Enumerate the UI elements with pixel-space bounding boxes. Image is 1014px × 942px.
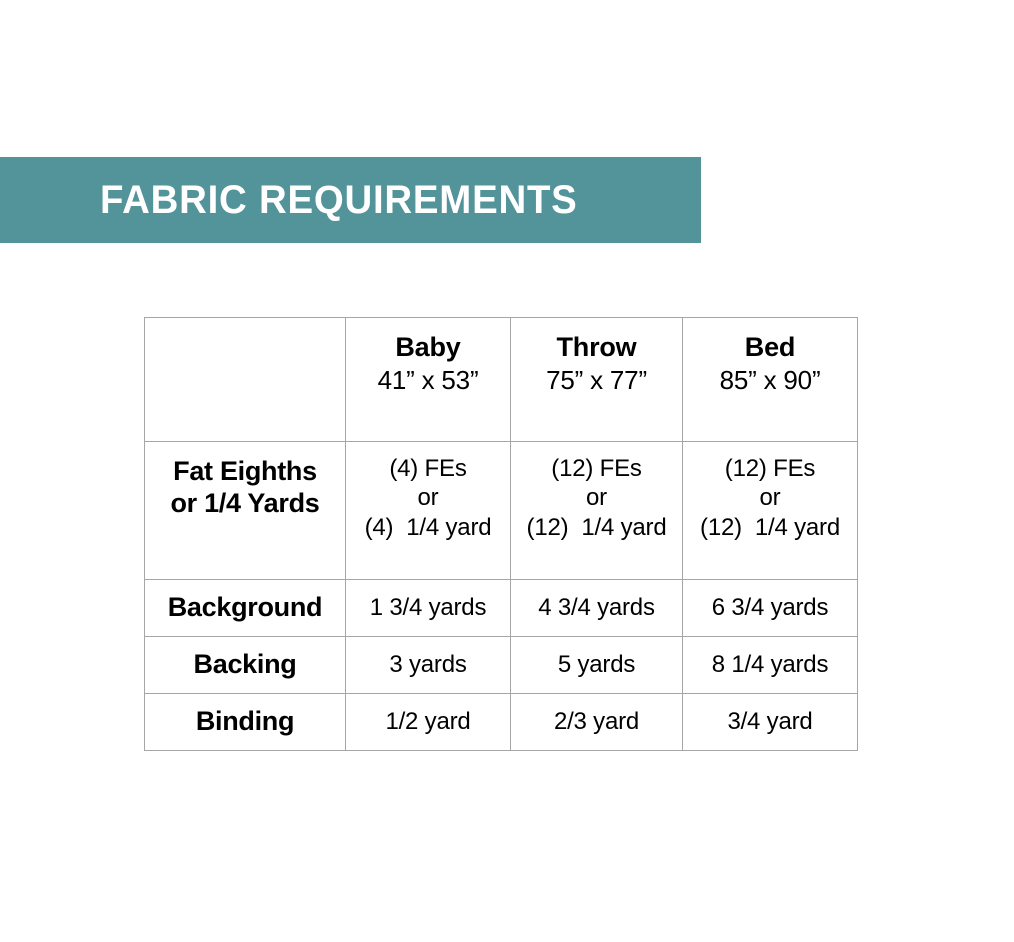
cell-value: (4) FEs or (4) 1/4 yard xyxy=(346,442,510,542)
cell-background-baby: 1 3/4 yards xyxy=(346,580,511,637)
table-header-baby: Baby 41” x 53” xyxy=(346,318,511,442)
cell-fat-eighths-bed: (12) FEs or (12) 1/4 yard xyxy=(683,442,858,580)
size-dims-bed: 85” x 90” xyxy=(683,365,857,395)
cell-value: 4 3/4 yards xyxy=(511,595,682,621)
row-label-cell-fat-eighths: Fat Eighths or 1/4 Yards xyxy=(145,442,346,580)
fabric-requirements-table: Baby 41” x 53” Throw 75” x 77” Bed 85” x… xyxy=(144,317,858,751)
cell-value: 5 yards xyxy=(511,652,682,678)
cell-binding-bed: 3/4 yard xyxy=(683,694,858,751)
size-dims-baby: 41” x 53” xyxy=(346,365,510,395)
table-row-background: Background 1 3/4 yards 4 3/4 yards 6 3/4… xyxy=(145,580,858,637)
page-title: FABRIC REQUIREMENTS xyxy=(100,180,578,220)
cell-fat-eighths-throw: (12) FEs or (12) 1/4 yard xyxy=(511,442,683,580)
cell-backing-baby: 3 yards xyxy=(346,637,511,694)
row-label-cell-backing: Backing xyxy=(145,637,346,694)
table-corner-cell xyxy=(145,318,346,442)
table-row-backing: Backing 3 yards 5 yards 8 1/4 yards xyxy=(145,637,858,694)
table-header-throw: Throw 75” x 77” xyxy=(511,318,683,442)
size-name-bed: Bed xyxy=(683,332,857,363)
cell-value: 8 1/4 yards xyxy=(683,652,857,678)
fabric-requirements-banner: FABRIC REQUIREMENTS xyxy=(0,157,701,243)
cell-backing-bed: 8 1/4 yards xyxy=(683,637,858,694)
row-label-fat-eighths-line1: Fat Eighths xyxy=(145,456,345,488)
cell-value: 1 3/4 yards xyxy=(346,595,510,621)
size-name-baby: Baby xyxy=(346,332,510,363)
row-label-binding: Binding xyxy=(145,707,345,737)
row-label-cell-binding: Binding xyxy=(145,694,346,751)
cell-value: 3/4 yard xyxy=(683,709,857,735)
table-header-bed: Bed 85” x 90” xyxy=(683,318,858,442)
row-label-background: Background xyxy=(145,593,345,623)
size-dims-throw: 75” x 77” xyxy=(511,365,682,395)
cell-value: 6 3/4 yards xyxy=(683,595,857,621)
cell-fat-eighths-baby: (4) FEs or (4) 1/4 yard xyxy=(346,442,511,580)
row-label-backing: Backing xyxy=(145,650,345,680)
cell-background-throw: 4 3/4 yards xyxy=(511,580,683,637)
row-label-cell-background: Background xyxy=(145,580,346,637)
cell-value: (12) FEs or (12) 1/4 yard xyxy=(683,442,857,542)
cell-value: 1/2 yard xyxy=(346,709,510,735)
cell-binding-throw: 2/3 yard xyxy=(511,694,683,751)
cell-value: (12) FEs or (12) 1/4 yard xyxy=(511,442,682,542)
table-row-fat-eighths: Fat Eighths or 1/4 Yards (4) FEs or (4) … xyxy=(145,442,858,580)
fabric-requirements-table-wrapper: Baby 41” x 53” Throw 75” x 77” Bed 85” x… xyxy=(144,317,857,751)
cell-binding-baby: 1/2 yard xyxy=(346,694,511,751)
size-name-throw: Throw xyxy=(511,332,682,363)
cell-background-bed: 6 3/4 yards xyxy=(683,580,858,637)
cell-value: 3 yards xyxy=(346,652,510,678)
table-row-binding: Binding 1/2 yard 2/3 yard 3/4 yard xyxy=(145,694,858,751)
cell-value: 2/3 yard xyxy=(511,709,682,735)
cell-backing-throw: 5 yards xyxy=(511,637,683,694)
corner-cell-content xyxy=(145,318,345,332)
table-header-row: Baby 41” x 53” Throw 75” x 77” Bed 85” x… xyxy=(145,318,858,442)
row-label-fat-eighths-line2: or 1/4 Yards xyxy=(145,488,345,520)
